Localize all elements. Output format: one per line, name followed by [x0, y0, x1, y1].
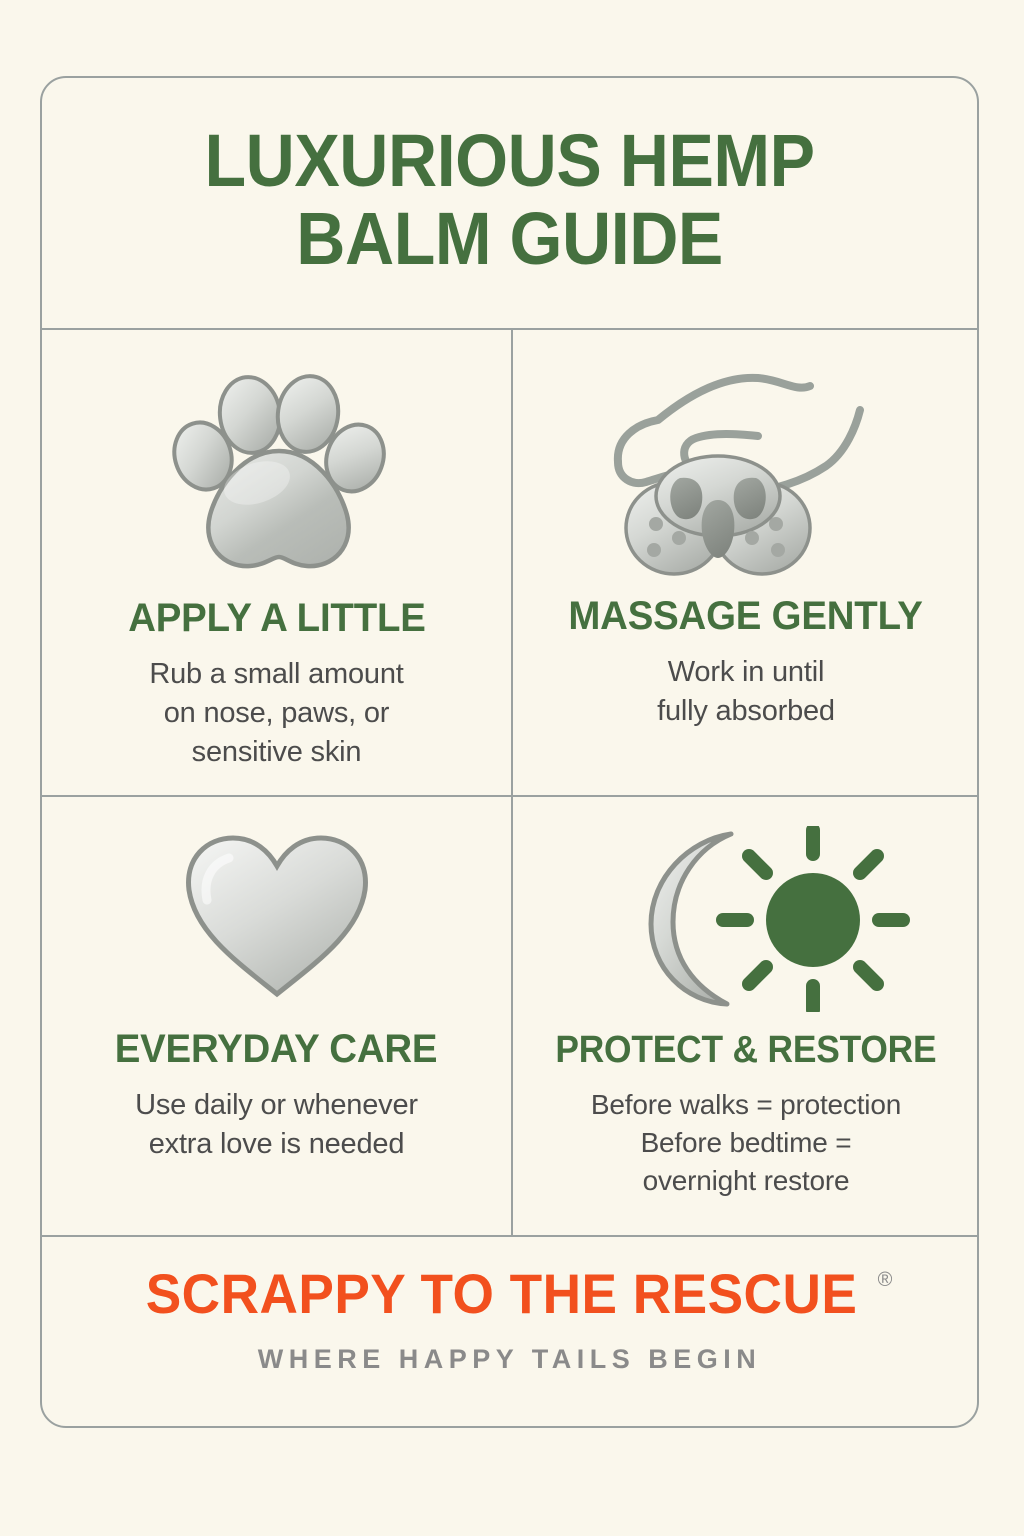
step-card-everyday-care: EVERYDAY CARE Use daily or whenever extr…: [42, 797, 511, 1235]
step-body: Rub a small amount on nose, paws, or sen…: [149, 655, 403, 772]
step-card-protect-and-restore: PROTECT & RESTORE Before walks = protect…: [513, 797, 979, 1235]
registered-trademark-icon: ®: [878, 1270, 893, 1290]
footer-branding: SCRAPPY TO THE RESCUE ® WHERE HAPPY TAIL…: [42, 1235, 977, 1426]
paw-print-icon: [161, 356, 393, 586]
heart-icon: [177, 819, 377, 1017]
step-card-massage-gently: MASSAGE GENTLY Work in until fully absor…: [513, 330, 979, 795]
brand-name: SCRAPPY TO THE RESCUE: [145, 1266, 857, 1322]
step-heading: MASSAGE GENTLY: [569, 594, 923, 639]
moon-and-sun-icon: [581, 819, 911, 1019]
infographic-poster: LUXURIOUS HEMP BALM GUIDE: [0, 0, 1024, 1536]
brand-row: SCRAPPY TO THE RESCUE ®: [127, 1266, 893, 1322]
step-body: Use daily or whenever extra love is need…: [135, 1086, 418, 1164]
steps-grid: APPLY A LITTLE Rub a small amount on nos…: [42, 330, 977, 1235]
step-heading: APPLY A LITTLE: [128, 596, 425, 641]
step-body: Before walks = protection Before bedtime…: [591, 1086, 901, 1199]
step-heading: PROTECT & RESTORE: [555, 1029, 936, 1072]
brand-tagline: WHERE HAPPY TAILS BEGIN: [258, 1344, 762, 1375]
hand-over-dog-nose-icon: [606, 356, 886, 584]
poster-frame: LUXURIOUS HEMP BALM GUIDE: [40, 76, 979, 1428]
title-block: LUXURIOUS HEMP BALM GUIDE: [42, 78, 977, 330]
step-body: Work in until fully absorbed: [657, 653, 835, 731]
step-heading: EVERYDAY CARE: [115, 1027, 438, 1072]
step-card-apply-a-little: APPLY A LITTLE Rub a small amount on nos…: [42, 330, 511, 795]
page-title: LUXURIOUS HEMP BALM GUIDE: [204, 122, 814, 279]
